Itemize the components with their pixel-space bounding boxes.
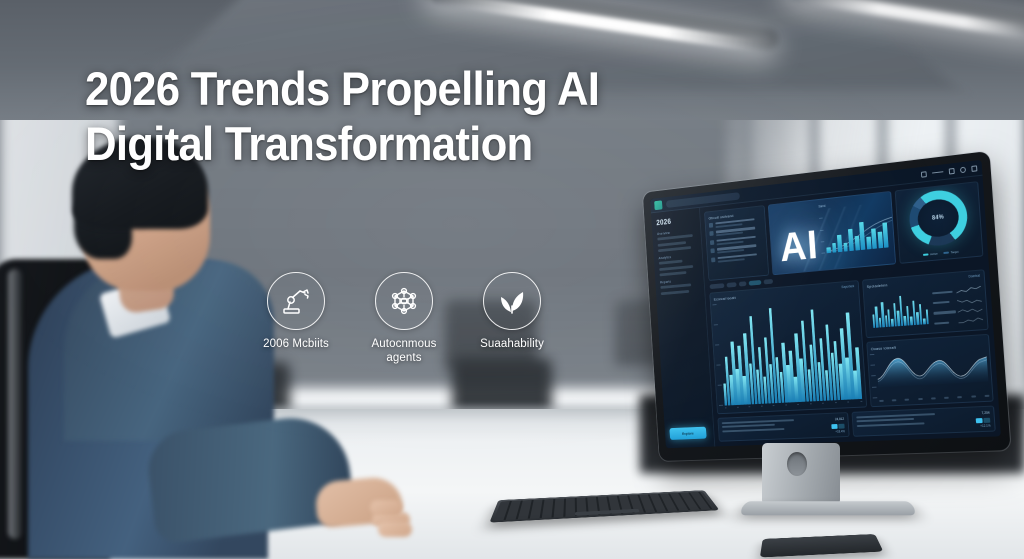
legend-label: Target: [951, 250, 959, 255]
filter-chip-active[interactable]: [749, 280, 762, 286]
sparkline-icon: [957, 296, 982, 305]
legend-row: [933, 296, 982, 307]
sidebar-section-reports: Reports: [660, 278, 699, 285]
axis-tick: [944, 397, 949, 399]
apps-icon[interactable]: [971, 165, 977, 172]
hero-mini-chart: Trend: [818, 197, 891, 260]
axis-tick: [725, 407, 727, 408]
axis-tick: [785, 404, 787, 405]
stat-card: 7,204 +12.1%: [851, 406, 995, 437]
sidebar-item[interactable]: [660, 271, 687, 276]
sparkline-icon: [958, 306, 983, 315]
axis-tick: [822, 403, 824, 404]
topbar-icon-group: [921, 165, 977, 177]
menu-icon[interactable]: [932, 171, 943, 174]
headline-line-1: 2026 Trends Propelling AI: [85, 62, 736, 117]
network-nodes-icon: [387, 284, 421, 318]
trend-badge-row: 2006 Mcbiits Autocnmousagents: [262, 272, 546, 365]
dashboard-body: 2026 Overview Analytics Reports Explore: [651, 176, 1001, 449]
bar: [832, 243, 837, 253]
leaf-icon: [495, 284, 529, 318]
gauge-card: 84% Active Target: [895, 181, 984, 264]
checkbox-icon[interactable]: [709, 231, 713, 236]
legend-item: Active: [923, 252, 938, 257]
filter-chip[interactable]: [710, 284, 725, 290]
axis-tick: [737, 407, 739, 408]
robot-arm-icon: [279, 284, 313, 318]
person-finger: [370, 500, 402, 515]
bar: [881, 302, 885, 327]
dashboard-middle-row: Ecorcal looatt Eaportxek Spoladehnn: [709, 270, 993, 415]
legend-row: [934, 317, 983, 327]
bar: [925, 309, 928, 324]
hero-mini-bars: [825, 215, 889, 254]
sidebar-item[interactable]: [658, 246, 691, 252]
trend-badge-label: 2006 Mcbiits: [263, 337, 329, 351]
axis-tick: [773, 405, 775, 406]
seated-person: [0, 139, 300, 559]
monitor-stand-base: [739, 501, 918, 515]
trend-badge-label: Suaahability: [480, 337, 544, 351]
app-logo-icon: [654, 200, 662, 210]
desktop-monitor: 2026 Overview Analytics Reports Explore: [643, 151, 1011, 461]
bar: [875, 307, 879, 328]
spiky-bar-plot: [718, 293, 862, 406]
office-chair-frame: [8, 269, 22, 539]
axis-tick: [797, 404, 799, 405]
legend-row: [932, 286, 981, 297]
trend-badge-sustainability[interactable]: Suaahability: [478, 272, 546, 351]
smallbar-chart: Spoladehnn: [867, 279, 931, 333]
dashboard-main: Obcutt ostlvand: [700, 176, 1001, 447]
dashboard-right-column: Spoladehnn Doartxat: [862, 270, 994, 408]
axis-tick: [918, 398, 923, 400]
sidebar-item[interactable]: [661, 290, 690, 295]
checkbox-icon[interactable]: [709, 223, 713, 228]
badge-ring: [483, 272, 541, 330]
badge-ring: [267, 272, 325, 330]
axis-tick: [931, 397, 936, 399]
checkbox-icon[interactable]: [711, 257, 715, 262]
sidebar-item[interactable]: [658, 241, 687, 247]
axis-tick: [905, 399, 910, 401]
spiky-bar-card: Ecorcal looatt Eaportxek: [709, 280, 867, 414]
wave-area-plot: [876, 346, 989, 387]
headline-line-2: Digital Transformation: [85, 117, 736, 172]
axis-tick: [984, 395, 989, 397]
sparkline-icon: [956, 286, 981, 295]
monitor-screen: 2026 Overview Analytics Reports Explore: [650, 160, 1001, 448]
stat-toggle[interactable]: [975, 418, 990, 424]
monitor-bezel: 2026 Overview Analytics Reports Explore: [643, 151, 1011, 461]
bar: [877, 232, 883, 249]
trend-badge-label: Autocnmousagents: [372, 337, 437, 365]
axis-tick: [835, 402, 837, 403]
sidebar-item[interactable]: [659, 260, 683, 265]
stat-card: 24,812 +18.4%: [717, 412, 849, 442]
sidebar-cta-button[interactable]: Explore: [669, 427, 706, 440]
list-item[interactable]: [711, 253, 764, 264]
sidebar-item[interactable]: [659, 265, 693, 271]
axis-tick: [810, 403, 812, 404]
bar: [837, 234, 842, 252]
sidebar-title: 2026: [656, 215, 695, 227]
badge-ring: [375, 272, 433, 330]
donut-gauge: 84%: [908, 188, 969, 249]
image-icon[interactable]: [949, 167, 955, 174]
wave-area-card: Ooaso ioteraft: [866, 334, 994, 408]
stat-value: 7,204: [981, 411, 989, 415]
axis-tick: [749, 406, 751, 407]
bell-icon[interactable]: [960, 166, 966, 173]
stat-toggle[interactable]: [831, 424, 845, 429]
stat-delta: +12.1%: [980, 424, 991, 428]
trend-badge-robotics[interactable]: 2006 Mcbiits: [262, 272, 330, 351]
stat-value: 24,812: [835, 417, 844, 421]
page-title: 2026 Trends Propelling AI Digital Transf…: [85, 62, 736, 172]
legend-label: Active: [930, 252, 938, 257]
stat-delta: +18.4%: [835, 429, 845, 433]
sparkline-icon: [958, 317, 983, 326]
axis-tick: [971, 395, 976, 397]
bar: [854, 236, 859, 251]
smallbar-card: Spoladehnn Doartxat: [862, 270, 989, 338]
bar: [843, 243, 848, 252]
smallbar-plot: [871, 290, 929, 328]
legend-item: Target: [943, 250, 959, 255]
axis-tick: [892, 399, 897, 401]
bar: [866, 237, 871, 250]
axis-tick: [957, 396, 962, 398]
bar: [910, 316, 913, 325]
filter-chip[interactable]: [764, 279, 773, 284]
trend-badge-autonomous-agents[interactable]: Autocnmousagents: [370, 272, 438, 365]
axis-tick: [847, 401, 849, 402]
ai-headline: AI: [779, 225, 820, 269]
person-finger: [378, 522, 412, 537]
filter-chip[interactable]: [727, 282, 737, 287]
bar: [887, 309, 890, 326]
bar: [871, 228, 877, 249]
checklist-card: Obcutt ostlvand: [704, 205, 769, 281]
smallbar-card-badge: Doartxat: [968, 274, 980, 279]
sidebar-item[interactable]: [660, 284, 691, 289]
filter-chip[interactable]: [739, 282, 747, 287]
gauge-legend: Active Target: [923, 250, 959, 257]
axis-tick: [879, 400, 884, 402]
axis-tick: [761, 406, 763, 407]
bar: [848, 228, 854, 251]
home-icon[interactable]: [921, 171, 927, 177]
bar: [826, 247, 831, 253]
ai-hero-panel: AI Trend: [768, 191, 896, 276]
axis-tick: [860, 401, 862, 402]
screenshot-canvas: 2026 Overview Analytics Reports Explore: [0, 0, 1024, 559]
bar: [923, 318, 926, 324]
bar: [919, 304, 923, 324]
wave-xaxis: [879, 395, 990, 405]
gauge-value: 84%: [908, 188, 969, 249]
monitor-stand-cable-hole: [787, 452, 807, 476]
checkbox-icon[interactable]: [710, 240, 714, 245]
smallbar-card-title: Spoladehnn: [867, 279, 928, 289]
smallbar-legend: Doartxat: [931, 275, 983, 329]
legend-row: [933, 306, 982, 316]
bar: [859, 222, 865, 250]
checkbox-icon[interactable]: [711, 249, 715, 254]
